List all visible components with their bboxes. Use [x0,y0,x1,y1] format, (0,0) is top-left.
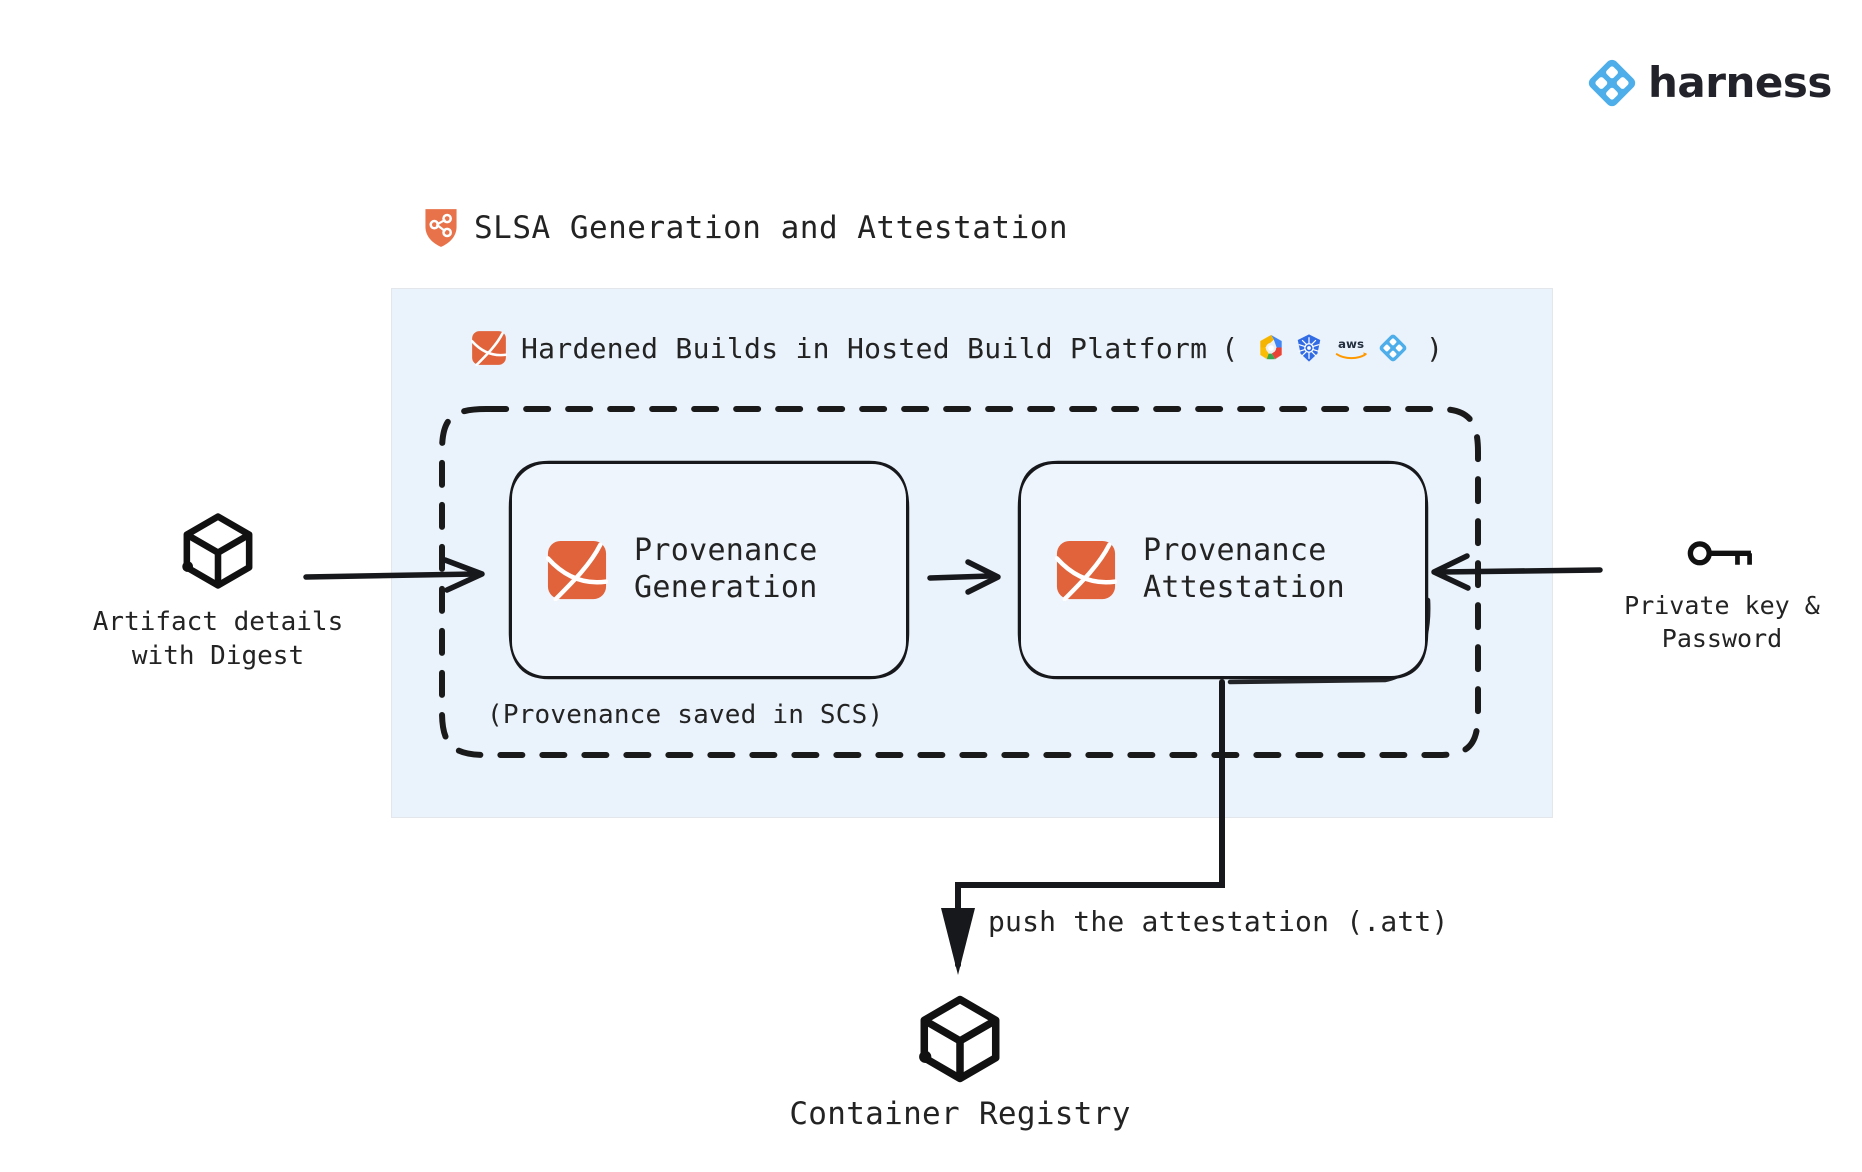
close-paren: ) [1426,332,1443,365]
provenance-attestation-box[interactable]: Provenance Attestation [1021,464,1425,676]
harness-diamond-icon [1378,333,1408,363]
cloud-provider-icon-group: aws [1256,333,1408,363]
provenance-generation-box[interactable]: Provenance Generation [512,464,906,676]
provenance-saved-caption: (Provenance saved in SCS) [487,700,883,730]
open-paren: ( [1221,332,1238,365]
kubernetes-icon [1294,333,1324,363]
harness-diamond-logo-icon [1586,57,1638,109]
gcp-icon [1256,333,1286,363]
private-key-node: Private key & Password [1590,536,1854,655]
slsa-shield-icon [424,208,458,248]
harness-brand-logo: harness [1586,57,1832,109]
cube-icon [78,510,358,592]
brand-name: harness [1648,62,1832,104]
svg-text:aws: aws [1338,337,1364,351]
panel-heading-text: Hardened Builds in Hosted Build Platform [521,332,1207,365]
section-title-text: SLSA Generation and Attestation [474,210,1068,246]
harness-product-icon [1055,539,1117,601]
diagram-canvas: harness SLSA Generation and Attestation [0,0,1862,1172]
section-title: SLSA Generation and Attestation [424,208,1068,248]
harness-product-icon [546,539,608,601]
cube-icon [740,992,1180,1086]
provenance-generation-label: Provenance Generation [634,533,818,606]
harness-product-icon [471,330,507,366]
artifact-node: Artifact details with Digest [78,510,358,674]
panel-heading: Hardened Builds in Hosted Build Platform… [471,330,1443,366]
container-registry-node: Container Registry [740,992,1180,1132]
provenance-attestation-label: Provenance Attestation [1143,533,1345,606]
private-key-node-caption: Private key & Password [1590,590,1854,655]
push-attestation-label: push the attestation (.att) [988,905,1449,938]
container-registry-caption: Container Registry [740,1096,1180,1132]
aws-icon: aws [1332,334,1370,362]
artifact-node-caption: Artifact details with Digest [78,606,358,674]
key-icon [1590,536,1854,576]
